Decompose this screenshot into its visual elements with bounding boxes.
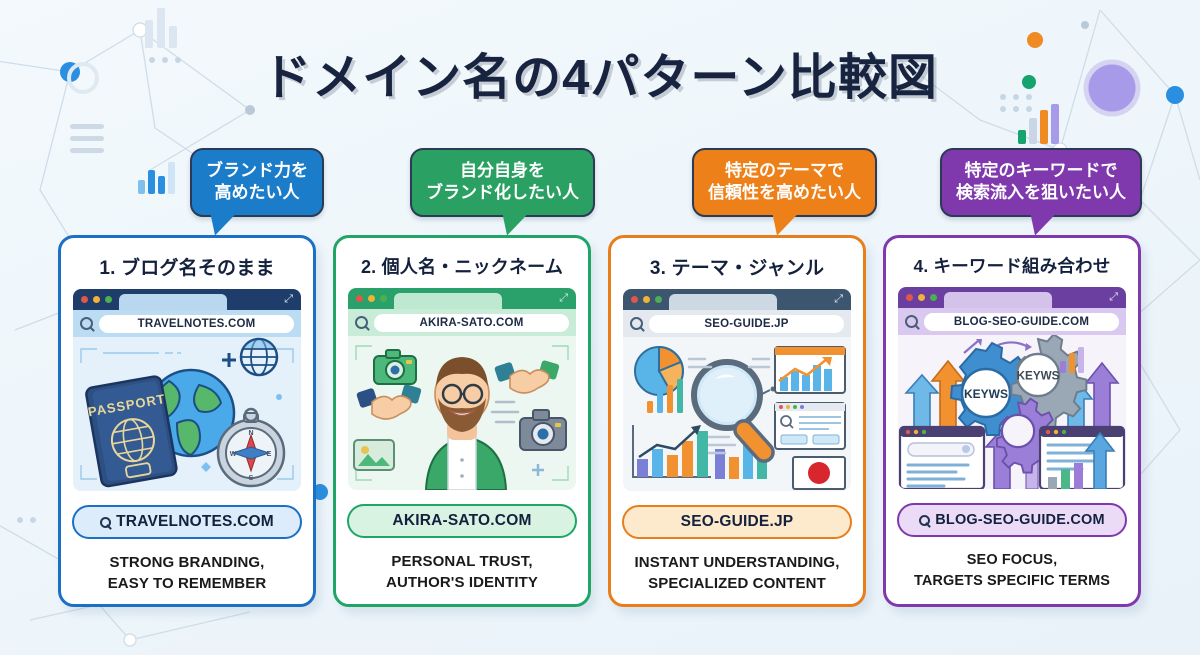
domain-pill[interactable]: AKIRA-SATO.COM bbox=[347, 504, 577, 538]
desc-line-1: STRONG BRANDING, bbox=[108, 552, 267, 573]
window-maximize-dot bbox=[930, 294, 937, 301]
browser-tab[interactable] bbox=[119, 294, 227, 310]
bubble-line-2: 高めたい人 bbox=[206, 182, 308, 204]
bubble-line-1: ブランド力を bbox=[206, 160, 308, 182]
bubble-line-2: 信頼性を高めたい人 bbox=[708, 182, 861, 204]
japan-flag-icon bbox=[793, 457, 845, 489]
desc-line-2: SPECIALIZED CONTENT bbox=[635, 573, 840, 594]
browser-mockup: ⤢ TRAVELNOTES.COM bbox=[73, 289, 301, 337]
bubble-self-brand: 自分自身を ブランド化したい人 bbox=[410, 148, 595, 217]
card-heading: 4. キーワード組み合わせ bbox=[913, 253, 1110, 278]
card-blog-name[interactable]: 1. ブログ名そのまま ⤢ TRAVELNOTES.COM bbox=[58, 235, 316, 607]
browser-chrome: ⤢ bbox=[623, 289, 851, 310]
illustration-passport-globe-compass: PASSPORT N E S W bbox=[73, 337, 301, 491]
illustration-gears-arrows-browsers: KEYWS KEYWS bbox=[898, 335, 1126, 489]
search-icon bbox=[919, 515, 930, 526]
card-heading: 3. テーマ・ジャンル bbox=[650, 253, 824, 280]
card-description: STRONG BRANDING, EASY TO REMEMBER bbox=[108, 552, 267, 595]
browser-tab[interactable] bbox=[669, 294, 777, 310]
desc-line-2: TARGETS SPECIFIC TERMS bbox=[914, 571, 1110, 592]
card-heading: 2. 個人名・ニックネーム bbox=[361, 253, 563, 279]
window-minimize-dot bbox=[368, 295, 375, 302]
domain-pill-label: SEO-GUIDE.JP bbox=[681, 513, 794, 531]
bubble-line-1: 特定のテーマで bbox=[708, 160, 861, 182]
illustration-charts-magnifier-flag bbox=[623, 337, 851, 491]
browser-address-bar: SEO-GUIDE.JP bbox=[623, 310, 851, 337]
card-description: SEO FOCUS, TARGETS SPECIFIC TERMS bbox=[914, 550, 1110, 591]
search-icon bbox=[905, 315, 918, 328]
window-maximize-dot bbox=[655, 296, 662, 303]
desc-line-1: SEO FOCUS, bbox=[914, 550, 1110, 571]
card-personal-name[interactable]: 2. 個人名・ニックネーム ⤢ AKIRA-SATO.COM bbox=[333, 235, 591, 607]
browser-chrome: ⤢ bbox=[898, 287, 1126, 308]
search-icon bbox=[80, 317, 93, 330]
browser-url[interactable]: BLOG-SEO-GUIDE.COM bbox=[924, 313, 1119, 331]
browser-url[interactable]: AKIRA-SATO.COM bbox=[374, 314, 569, 332]
window-close-dot bbox=[356, 295, 363, 302]
domain-pill[interactable]: TRAVELNOTES.COM bbox=[72, 505, 302, 539]
compass-w: W bbox=[230, 451, 237, 458]
bubble-branding: ブランド力を 高めたい人 bbox=[190, 148, 324, 217]
search-icon bbox=[355, 316, 368, 329]
window-close-dot bbox=[906, 294, 913, 301]
card-keyword-combo[interactable]: 4. キーワード組み合わせ ⤢ BLOG-SEO-GUIDE.COM bbox=[883, 235, 1141, 607]
browser-tab[interactable] bbox=[944, 292, 1052, 308]
expand-icon[interactable]: ⤢ bbox=[559, 293, 568, 304]
browser-url[interactable]: SEO-GUIDE.JP bbox=[649, 315, 844, 333]
bubble-line-1: 自分自身を bbox=[426, 160, 579, 182]
expand-icon[interactable]: ⤢ bbox=[1109, 292, 1118, 303]
desc-line-2: EASY TO REMEMBER bbox=[108, 573, 267, 594]
browser-mockup: ⤢ SEO-GUIDE.JP bbox=[623, 289, 851, 337]
card-description: INSTANT UNDERSTANDING, SPECIALIZED CONTE… bbox=[635, 552, 840, 595]
browser-mockup: ⤢ BLOG-SEO-GUIDE.COM bbox=[898, 287, 1126, 335]
window-minimize-dot bbox=[643, 296, 650, 303]
domain-pill-label: BLOG-SEO-GUIDE.COM bbox=[935, 512, 1105, 528]
infographic-canvas: ドメイン名の4パターン比較図 ブランド力を 高めたい人 自分自身を ブランド化し… bbox=[0, 0, 1200, 655]
browser-url[interactable]: TRAVELNOTES.COM bbox=[99, 315, 294, 333]
bubble-theme-trust: 特定のテーマで 信頼性を高めたい人 bbox=[692, 148, 877, 217]
search-icon bbox=[100, 517, 111, 528]
window-minimize-dot bbox=[918, 294, 925, 301]
browser-address-bar: TRAVELNOTES.COM bbox=[73, 310, 301, 337]
expand-icon[interactable]: ⤢ bbox=[834, 294, 843, 305]
window-minimize-dot bbox=[93, 296, 100, 303]
bubble-keyword-search: 特定のキーワードで 検索流入を狙いたい人 bbox=[940, 148, 1142, 217]
illustration-person-handshake-camera bbox=[348, 336, 576, 490]
card-description: PERSONAL TRUST, AUTHOR'S IDENTITY bbox=[386, 551, 538, 594]
window-maximize-dot bbox=[380, 295, 387, 302]
window-close-dot bbox=[81, 296, 88, 303]
browser-mockup: ⤢ AKIRA-SATO.COM bbox=[348, 288, 576, 336]
domain-pill[interactable]: BLOG-SEO-GUIDE.COM bbox=[897, 503, 1127, 537]
card-theme-genre[interactable]: 3. テーマ・ジャンル ⤢ SEO-GUIDE.JP bbox=[608, 235, 866, 607]
card-heading: 1. ブログ名そのまま bbox=[99, 253, 274, 280]
browser-address-bar: AKIRA-SATO.COM bbox=[348, 309, 576, 336]
domain-pill-label: AKIRA-SATO.COM bbox=[392, 512, 531, 530]
desc-line-1: INSTANT UNDERSTANDING, bbox=[635, 552, 840, 573]
gear-label-2: KEYWS bbox=[1017, 370, 1060, 383]
domain-pill-label: TRAVELNOTES.COM bbox=[116, 513, 274, 531]
camera-icon bbox=[374, 350, 416, 384]
gear-label-1: KEYWS bbox=[964, 387, 1008, 401]
desc-line-1: PERSONAL TRUST, bbox=[386, 551, 538, 572]
browser-chrome: ⤢ bbox=[348, 288, 576, 309]
window-close-dot bbox=[631, 296, 638, 303]
browser-address-bar: BLOG-SEO-GUIDE.COM bbox=[898, 308, 1126, 335]
domain-pill[interactable]: SEO-GUIDE.JP bbox=[622, 505, 852, 539]
bubble-line-2: 検索流入を狙いたい人 bbox=[956, 182, 1126, 204]
bubble-line-1: 特定のキーワードで bbox=[956, 160, 1126, 182]
image-icon bbox=[354, 440, 394, 470]
search-icon bbox=[630, 317, 643, 330]
page-title: ドメイン名の4パターン比較図 bbox=[0, 38, 1200, 109]
expand-icon[interactable]: ⤢ bbox=[284, 294, 293, 305]
browser-chrome: ⤢ bbox=[73, 289, 301, 310]
compass-n: N bbox=[248, 430, 253, 437]
window-maximize-dot bbox=[105, 296, 112, 303]
browser-tab[interactable] bbox=[394, 293, 502, 309]
bubble-line-2: ブランド化したい人 bbox=[426, 182, 579, 204]
compass-s: S bbox=[249, 475, 254, 482]
desc-line-2: AUTHOR'S IDENTITY bbox=[386, 572, 538, 593]
compass-e: E bbox=[267, 451, 272, 458]
